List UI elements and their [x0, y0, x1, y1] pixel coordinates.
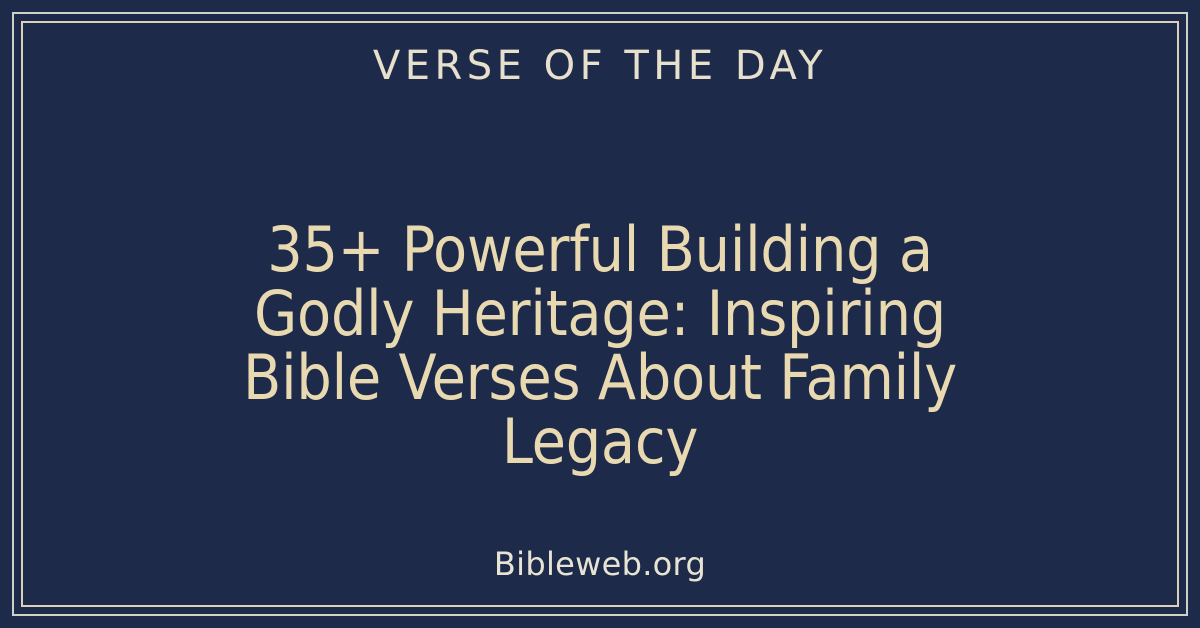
- page-title-line-1: 35+ Powerful Building a: [24, 218, 1176, 282]
- card-content: VERSE OF THE DAY 35+ Powerful Building a…: [24, 24, 1176, 604]
- site-attribution: Bibleweb.org: [24, 546, 1176, 582]
- page-title-line-4: Legacy: [24, 410, 1176, 474]
- eyebrow-label: VERSE OF THE DAY: [24, 44, 1176, 88]
- page-title-line-2: Godly Heritage: Inspiring: [24, 282, 1176, 346]
- verse-of-the-day-card: VERSE OF THE DAY 35+ Powerful Building a…: [0, 0, 1200, 628]
- page-title: 35+ Powerful Building a Godly Heritage: …: [24, 218, 1176, 474]
- page-title-line-3: Bible Verses About Family: [24, 346, 1176, 410]
